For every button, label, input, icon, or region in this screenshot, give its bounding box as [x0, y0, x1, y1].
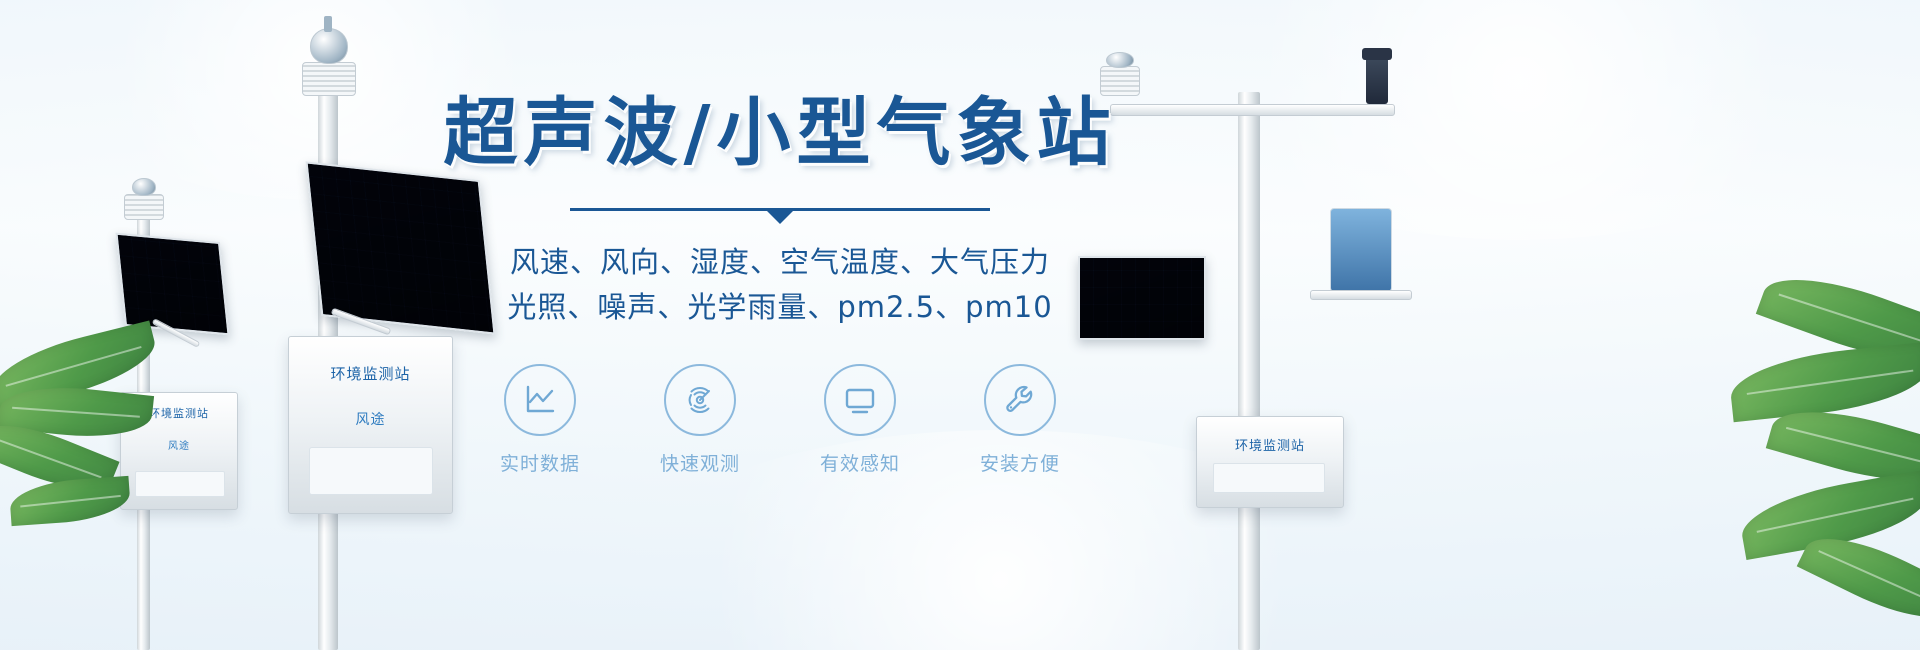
radar-scan-icon	[664, 364, 736, 436]
sensor-dome-icon	[132, 178, 156, 196]
page-title: 超声波/小型气象站	[430, 96, 1130, 170]
wrench-icon	[984, 364, 1056, 436]
banner-content: 超声波/小型气象站 风速、风向、湿度、空气温度、大气压力 光照、噪声、光学雨量、…	[430, 96, 1130, 476]
feature-label: 有效感知	[800, 449, 920, 476]
subtitle-line-1: 风速、风向、湿度、空气温度、大气压力	[430, 240, 1130, 285]
line-chart-icon	[504, 364, 576, 436]
enclosure-box: 环境监测站 风途	[288, 336, 453, 514]
sensor-dome-icon	[1106, 52, 1134, 68]
sensor-dome-icon	[310, 28, 348, 64]
feature-label: 实时数据	[480, 449, 600, 476]
camera-sensor	[1366, 56, 1388, 104]
cross-arm	[1110, 104, 1395, 116]
feature-label: 安装方便	[960, 449, 1080, 476]
feature-item-effective-sensing[interactable]: 有效感知	[800, 364, 920, 476]
sensor-head-icon	[124, 194, 164, 220]
rain-gauge	[1330, 208, 1392, 292]
feature-item-easy-installation[interactable]: 安装方便	[960, 364, 1080, 476]
chevron-down-icon	[767, 211, 793, 224]
feature-item-fast-observation[interactable]: 快速观测	[640, 364, 760, 476]
enclosure-tag: 环境监测站	[1235, 435, 1305, 454]
monitor-icon	[824, 364, 896, 436]
enclosure-tag: 环境监测站	[149, 405, 209, 421]
brand-label: 风途	[168, 437, 190, 452]
title-divider	[570, 208, 990, 222]
feature-list: 实时数据 快速观测	[430, 364, 1130, 476]
subtitle-line-2: 光照、噪声、光学雨量、pm2.5、pm10	[430, 285, 1130, 330]
enclosure-tag: 环境监测站	[330, 363, 410, 384]
feature-item-realtime-data[interactable]: 实时数据	[480, 364, 600, 476]
sensor-head-icon	[302, 62, 356, 96]
product-banner: 环境监测站 风途 环境监测站 风途 环境监测站	[0, 0, 1920, 650]
brand-label: 风途	[356, 409, 386, 429]
solar-panel	[115, 233, 229, 336]
enclosure-box: 环境监测站	[1196, 416, 1344, 508]
feature-label: 快速观测	[640, 449, 760, 476]
